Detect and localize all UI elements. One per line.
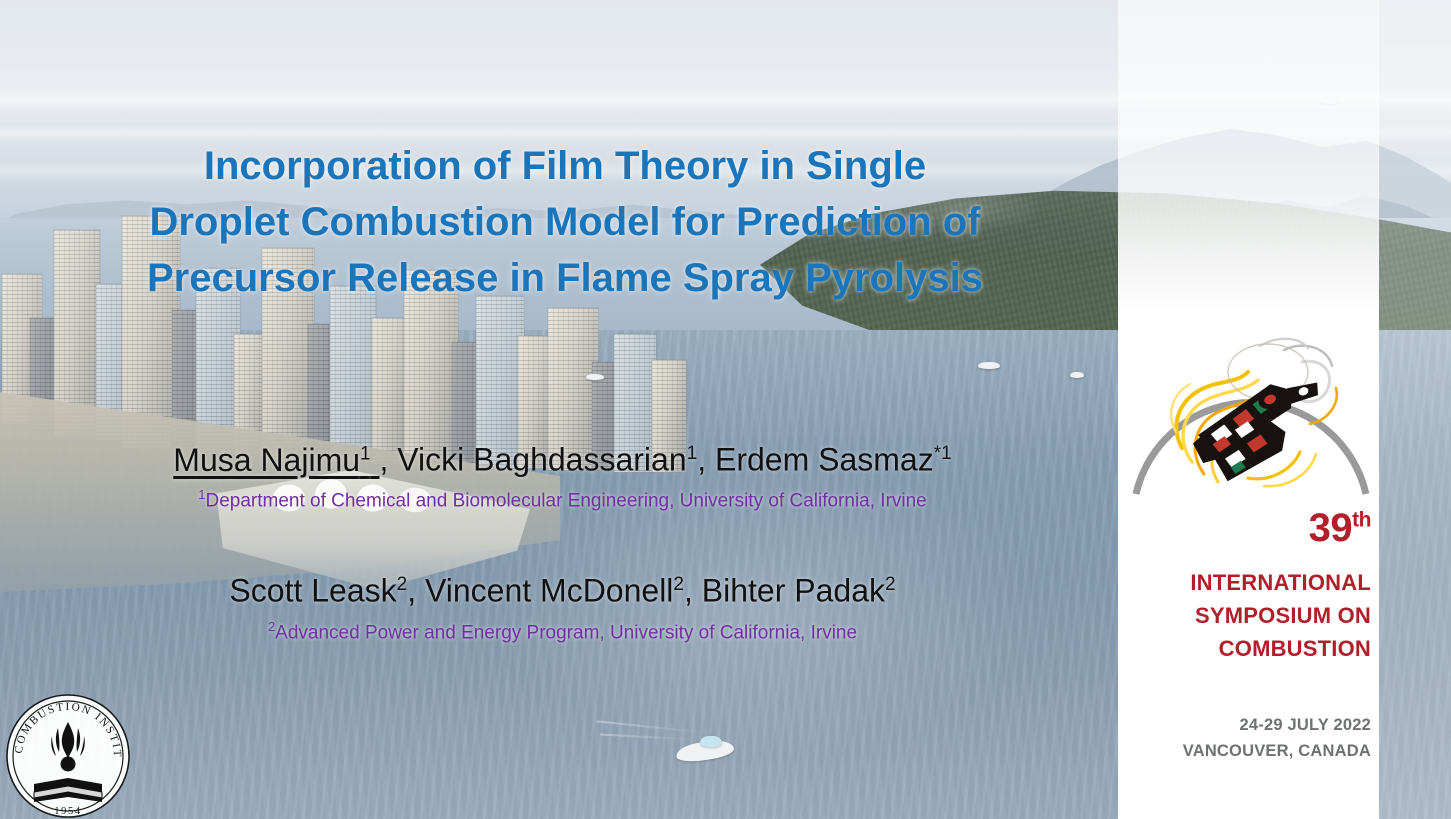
conference-name: INTERNATIONAL SYMPOSIUM ON COMBUSTION <box>1118 566 1371 665</box>
boat <box>1070 372 1084 378</box>
title-line: Droplet Combustion Model for Prediction … <box>40 194 1090 250</box>
author-name: , Bihter Padak <box>684 573 885 609</box>
authors-line-2: Scott Leask2, Vincent McDonell2, Bihter … <box>30 565 1095 611</box>
affiliation-marker: 1 <box>687 443 698 464</box>
affiliation-text: Advanced Power and Energy Program, Unive… <box>275 622 857 643</box>
affiliation-marker: 2 <box>397 574 408 595</box>
combustion-institute-seal-icon: THE COMBUSTION INSTITUTE 1954 <box>4 692 132 819</box>
conference-edition: 39th <box>1118 508 1371 548</box>
conference-name-line: SYMPOSIUM ON <box>1118 599 1371 632</box>
author-name: Scott Leask <box>229 573 396 609</box>
conference-dates: 24-29 JULY 2022 <box>1118 712 1371 738</box>
edition-suffix: th <box>1352 509 1371 532</box>
presenting-author-name: Musa Najimu <box>173 442 360 478</box>
presentation-title-slide: 39th INTERNATIONAL SYMPOSIUM ON COMBUSTI… <box>0 0 1451 819</box>
affiliation-marker: 1 <box>360 443 371 464</box>
boat <box>586 374 604 380</box>
boat <box>978 362 1000 369</box>
conference-dates-location: 24-29 JULY 2022 VANCOUVER, CANADA <box>1118 712 1371 764</box>
svg-text:1954: 1954 <box>54 806 81 817</box>
author-name: , Vincent McDonell <box>407 573 673 609</box>
title-line: Incorporation of Film Theory in Single <box>40 138 1090 194</box>
affiliation-marker: *1 <box>934 443 952 464</box>
author-name: , Erdem Sasmaz <box>697 442 934 478</box>
title-line: Precursor Release in Flame Spray Pyrolys… <box>40 250 1090 306</box>
conference-name-line: INTERNATIONAL <box>1118 566 1371 599</box>
page-title: Incorporation of Film Theory in Single D… <box>40 138 1090 306</box>
affiliation-2: 2Advanced Power and Energy Program, Univ… <box>30 614 1095 646</box>
authors-line-1: Musa Najimu1 , Vicki Baghdassarian1, Erd… <box>30 434 1095 480</box>
conference-logo <box>1126 298 1376 498</box>
affiliation-marker: 2 <box>885 574 896 595</box>
conference-branding-panel: 39th INTERNATIONAL SYMPOSIUM ON COMBUSTI… <box>1118 0 1379 819</box>
affiliation-1: 1Department of Chemical and Biomolecular… <box>30 482 1095 514</box>
author-name: , Vicki Baghdassarian <box>379 442 686 478</box>
firebird-thunderbird-icon <box>1152 328 1352 493</box>
conference-name-line: COMBUSTION <box>1118 632 1371 665</box>
edition-number: 39 <box>1309 506 1353 550</box>
boat-cabin <box>700 736 722 747</box>
conference-location: VANCOUVER, CANADA <box>1118 738 1371 764</box>
affiliation-marker: 2 <box>673 574 684 595</box>
presenting-author: Musa Najimu1 <box>173 442 379 478</box>
affiliation-text: Department of Chemical and Biomolecular … <box>205 490 926 511</box>
